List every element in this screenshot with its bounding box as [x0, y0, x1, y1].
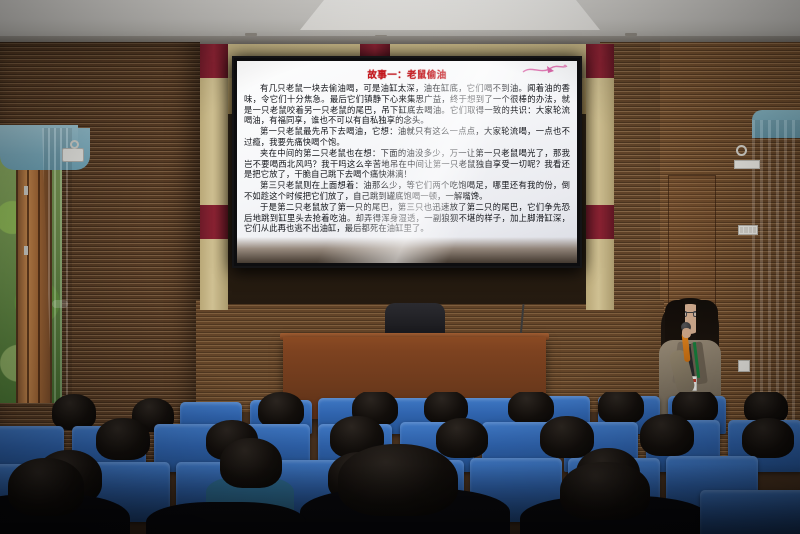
- audience-head: [436, 418, 488, 458]
- switch-key[interactable]: [744, 227, 747, 233]
- audience-head: [540, 416, 594, 458]
- audience-head: [96, 418, 150, 460]
- ceiling-slab: [300, 0, 600, 30]
- flourish-decoration-icon: [521, 63, 569, 77]
- door-hinge-icon: [24, 186, 28, 195]
- audience-head: [8, 458, 84, 516]
- slide-paragraph: 于是第二只老鼠放了第一只的尾巴，第三只也迅速放了第二只的尾巴，它们争先恐后地跳到…: [244, 202, 570, 234]
- light-switch-panel[interactable]: [738, 225, 758, 235]
- pilaster-maroon-right-top: [586, 44, 614, 78]
- slide-body: 有几只老鼠一块去偷油喝，可是油缸太深，油在缸底，它们喝不到油。闻着油的香味，令它…: [237, 83, 577, 234]
- pilaster-maroon-left-top: [200, 44, 228, 78]
- slide-paragraph: 夹在中间的第二只老鼠也在想：下面的油没多少，万一让第一只老鼠喝光了，那我岂不要喝…: [244, 148, 570, 180]
- slide-surface: 故事一：老鼠偷油 有几只老鼠一块去偷油喝，可是油缸太深，油在缸底，它们喝不到油。…: [237, 61, 577, 263]
- pilaster-maroon-left-mid: [200, 205, 228, 239]
- audience-head: [560, 462, 650, 520]
- audience-head: [52, 394, 96, 430]
- pilaster-tan-left: [200, 78, 228, 310]
- wall-bracket: [62, 148, 84, 162]
- audience-head: [598, 392, 644, 424]
- door-mullion: [27, 138, 29, 403]
- switch-key[interactable]: [740, 227, 743, 233]
- audience-head: [220, 438, 282, 488]
- audience-seating: [0, 392, 800, 534]
- door-hinge-icon: [24, 246, 28, 255]
- lecture-hall-scene: 故事一：老鼠偷油 有几只老鼠一块去偷油喝，可是油缸太深，油在缸底，它们喝不到油。…: [0, 0, 800, 534]
- screen-bottom-reflection: [237, 237, 577, 263]
- switch-key[interactable]: [753, 227, 756, 233]
- slide-paragraph: 第一只老鼠最先吊下去喝油，它想：油就只有这么一点点，大家轮流喝，一点也不过瘾，我…: [244, 126, 570, 148]
- curtain-tieback[interactable]: [52, 300, 68, 308]
- wall-plate: [734, 160, 760, 169]
- pilaster-maroon-right-mid: [586, 205, 614, 239]
- seat[interactable]: [700, 490, 800, 534]
- door-mullion: [38, 138, 40, 403]
- presenter-hand: [682, 328, 691, 338]
- curtain-rod-knob-icon: [70, 140, 79, 149]
- slide-paragraph: 第三只老鼠则在上面想着：油那么少，等它们两个吃饱喝足，哪里还有我的份，倒不如趁这…: [244, 180, 570, 202]
- wall-outlet-icon: [738, 360, 750, 372]
- audience-head: [338, 444, 458, 516]
- audience-head: [742, 418, 794, 458]
- audience-head: [508, 392, 554, 424]
- audience-head: [640, 414, 694, 456]
- slide-paragraph: 有几只老鼠一块去偷油喝，可是油缸太深，油在缸底，它们喝不到油。闻着油的香味，令它…: [244, 83, 570, 126]
- pilaster-tan-right: [586, 78, 614, 310]
- switch-key[interactable]: [749, 227, 752, 233]
- audience-shoulders: [146, 502, 306, 534]
- projection-screen[interactable]: 故事一：老鼠偷油 有几只老鼠一块去偷油喝，可是油缸太深，油在缸底，它们喝不到油。…: [232, 56, 582, 268]
- audience-head: [258, 392, 304, 428]
- curtain-rod-knob-icon: [736, 145, 747, 156]
